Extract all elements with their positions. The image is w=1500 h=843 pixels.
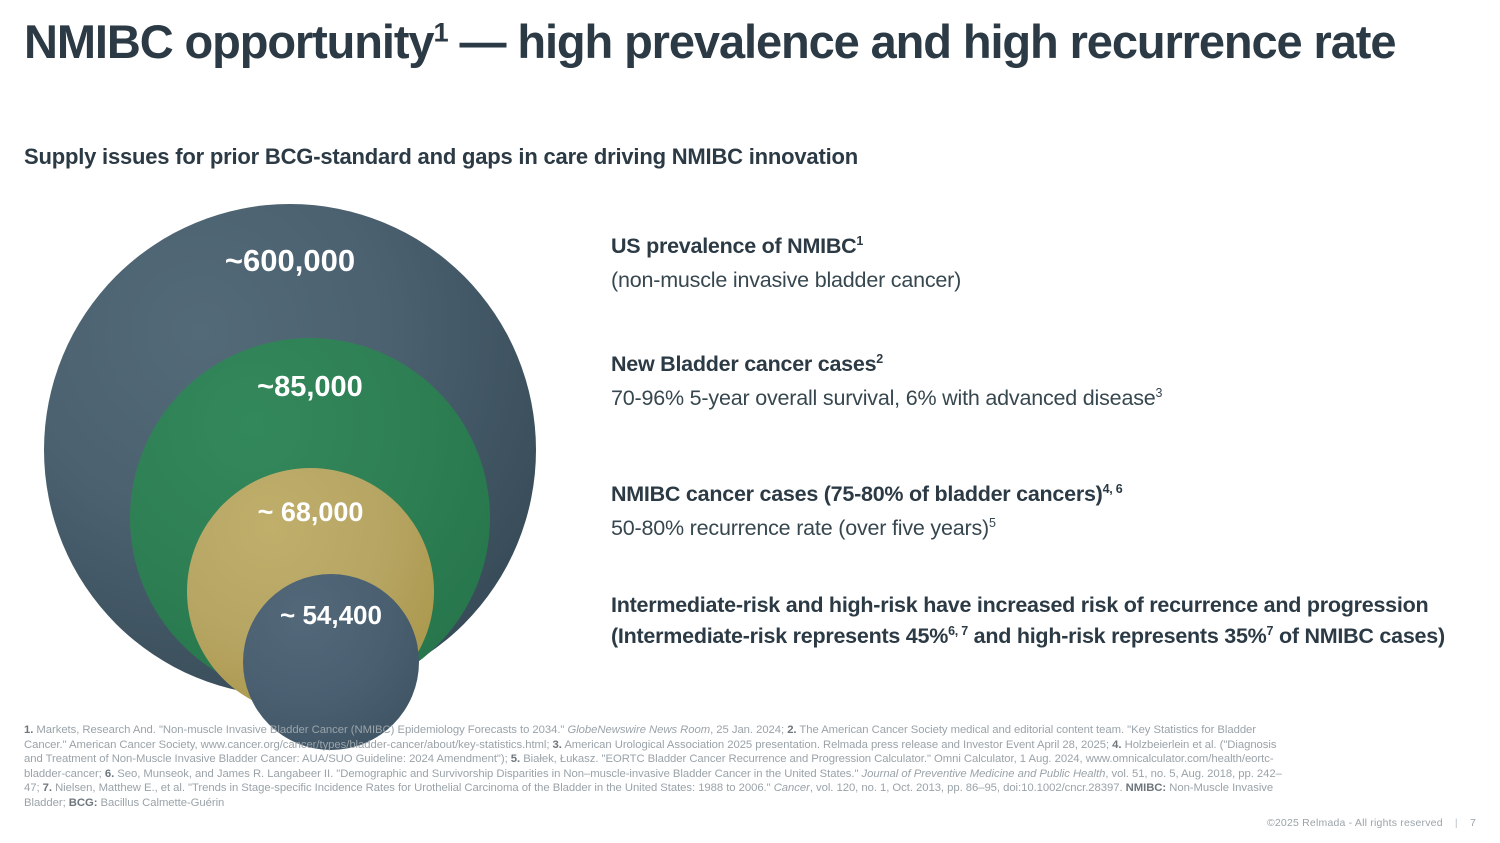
- callout-item: US prevalence of NMIBC1 (non-muscle inva…: [611, 232, 1473, 295]
- circle-new-bladder-cases-label: ~85,000: [130, 371, 490, 404]
- callout-item: Intermediate-risk and high-risk have inc…: [611, 590, 1473, 652]
- circle-nmibc-cases-label: ~ 68,000: [187, 497, 434, 528]
- page-number: 7: [1470, 817, 1476, 829]
- footnotes-block: 1. Markets, Research And. "Non-muscle In…: [24, 723, 1294, 811]
- callout-heading: NMIBC cancer cases (75-80% of bladder ca…: [611, 480, 1473, 509]
- nested-circles-chart: ~600,000 ~85,000 ~ 68,000 ~ 54,400: [44, 204, 536, 696]
- callout-subtext: 50-80% recurrence rate (over five years)…: [611, 513, 1473, 544]
- callout-item: New Bladder cancer cases2 70-96% 5-year …: [611, 350, 1473, 413]
- page-subtitle: Supply issues for prior BCG-standard and…: [24, 144, 1424, 170]
- title-footnote-marker: 1: [433, 16, 447, 47]
- slide-footer: ©2025 Relmada - All rights reserved | 7: [1267, 817, 1476, 829]
- callout-heading: Intermediate-risk and high-risk have inc…: [611, 590, 1473, 652]
- callout-heading: New Bladder cancer cases2: [611, 350, 1473, 379]
- circle-prevalence-label: ~600,000: [44, 243, 536, 279]
- page-title: NMIBC opportunity1 — high prevalence and…: [24, 14, 1424, 69]
- circle-intermediate-high-risk-label: ~ 54,400: [243, 600, 419, 631]
- callout-heading: US prevalence of NMIBC1: [611, 232, 1473, 261]
- callout-subtext: 70-96% 5-year overall survival, 6% with …: [611, 383, 1473, 414]
- footer-divider: |: [1455, 817, 1458, 829]
- callout-subtext: (non-muscle invasive bladder cancer): [611, 265, 1473, 296]
- copyright-text: ©2025 Relmada - All rights reserved: [1267, 817, 1443, 829]
- callout-item: NMIBC cancer cases (75-80% of bladder ca…: [611, 480, 1473, 543]
